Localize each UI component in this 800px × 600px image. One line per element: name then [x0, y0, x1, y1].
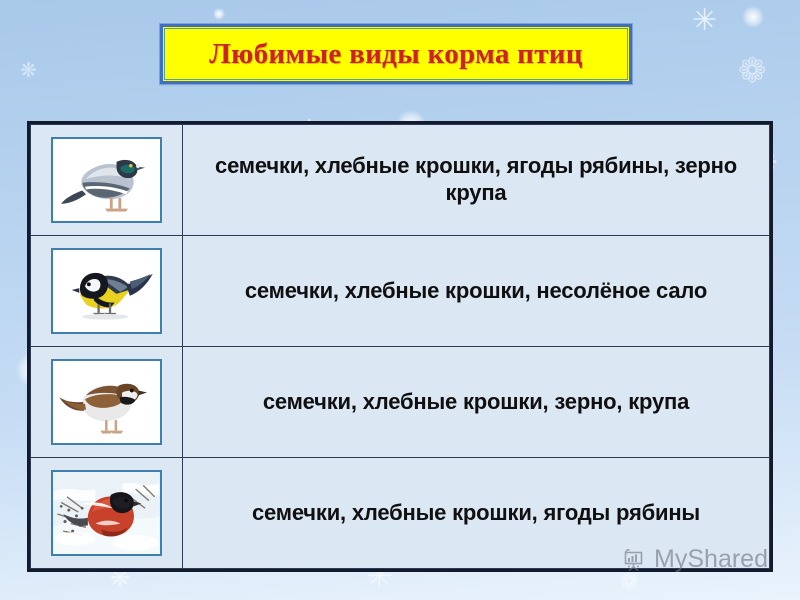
bird-image-cell	[31, 236, 183, 347]
snow-dot	[213, 8, 225, 20]
snowflake-icon: ❁	[620, 572, 638, 594]
table-row: семечки, хлебные крошки, несолёное сало	[31, 236, 770, 347]
bird-image-cell	[31, 125, 183, 236]
feed-text: семечки, хлебные крошки, ягоды рябины	[201, 500, 751, 527]
feed-text: семечки, хлебные крошки, несолёное сало	[201, 278, 751, 305]
feed-text-cell: семечки, хлебные крошки, несолёное сало	[183, 236, 770, 347]
feed-text: семечки, хлебные крошки, ягоды рябины, з…	[201, 153, 751, 207]
sparrow-image	[51, 359, 162, 445]
slide-title-box: Любимые виды корма птиц	[160, 24, 632, 84]
feed-text-cell: семечки, хлебные крошки, зерно, крупа	[183, 347, 770, 458]
snowflake-icon: ✳	[692, 6, 717, 36]
feed-text-cell: семечки, хлебные крошки, ягоды рябины, з…	[183, 125, 770, 236]
slide-title: Любимые виды корма птиц	[209, 38, 583, 71]
great-tit-image	[51, 248, 162, 334]
bullfinch-image	[51, 470, 162, 556]
myshared-watermark: MyShared	[622, 545, 768, 574]
bird-image-cell	[31, 347, 183, 458]
feed-text: семечки, хлебные крошки, зерно, крупа	[201, 389, 751, 416]
presentation-board-icon	[622, 547, 648, 573]
snowflake-icon: ❋	[20, 60, 37, 80]
table-row: семечки, хлебные крошки, ягоды рябины, з…	[31, 125, 770, 236]
bird-feed-table: семечки, хлебные крошки, ягоды рябины, з…	[27, 121, 773, 572]
watermark-text: MyShared	[654, 545, 768, 574]
snowflake-icon: ❁	[738, 54, 767, 88]
pigeon-image	[51, 137, 162, 223]
bird-image-cell	[31, 458, 183, 569]
snow-dot	[742, 6, 764, 28]
table-row: семечки, хлебные крошки, зерно, крупа	[31, 347, 770, 458]
